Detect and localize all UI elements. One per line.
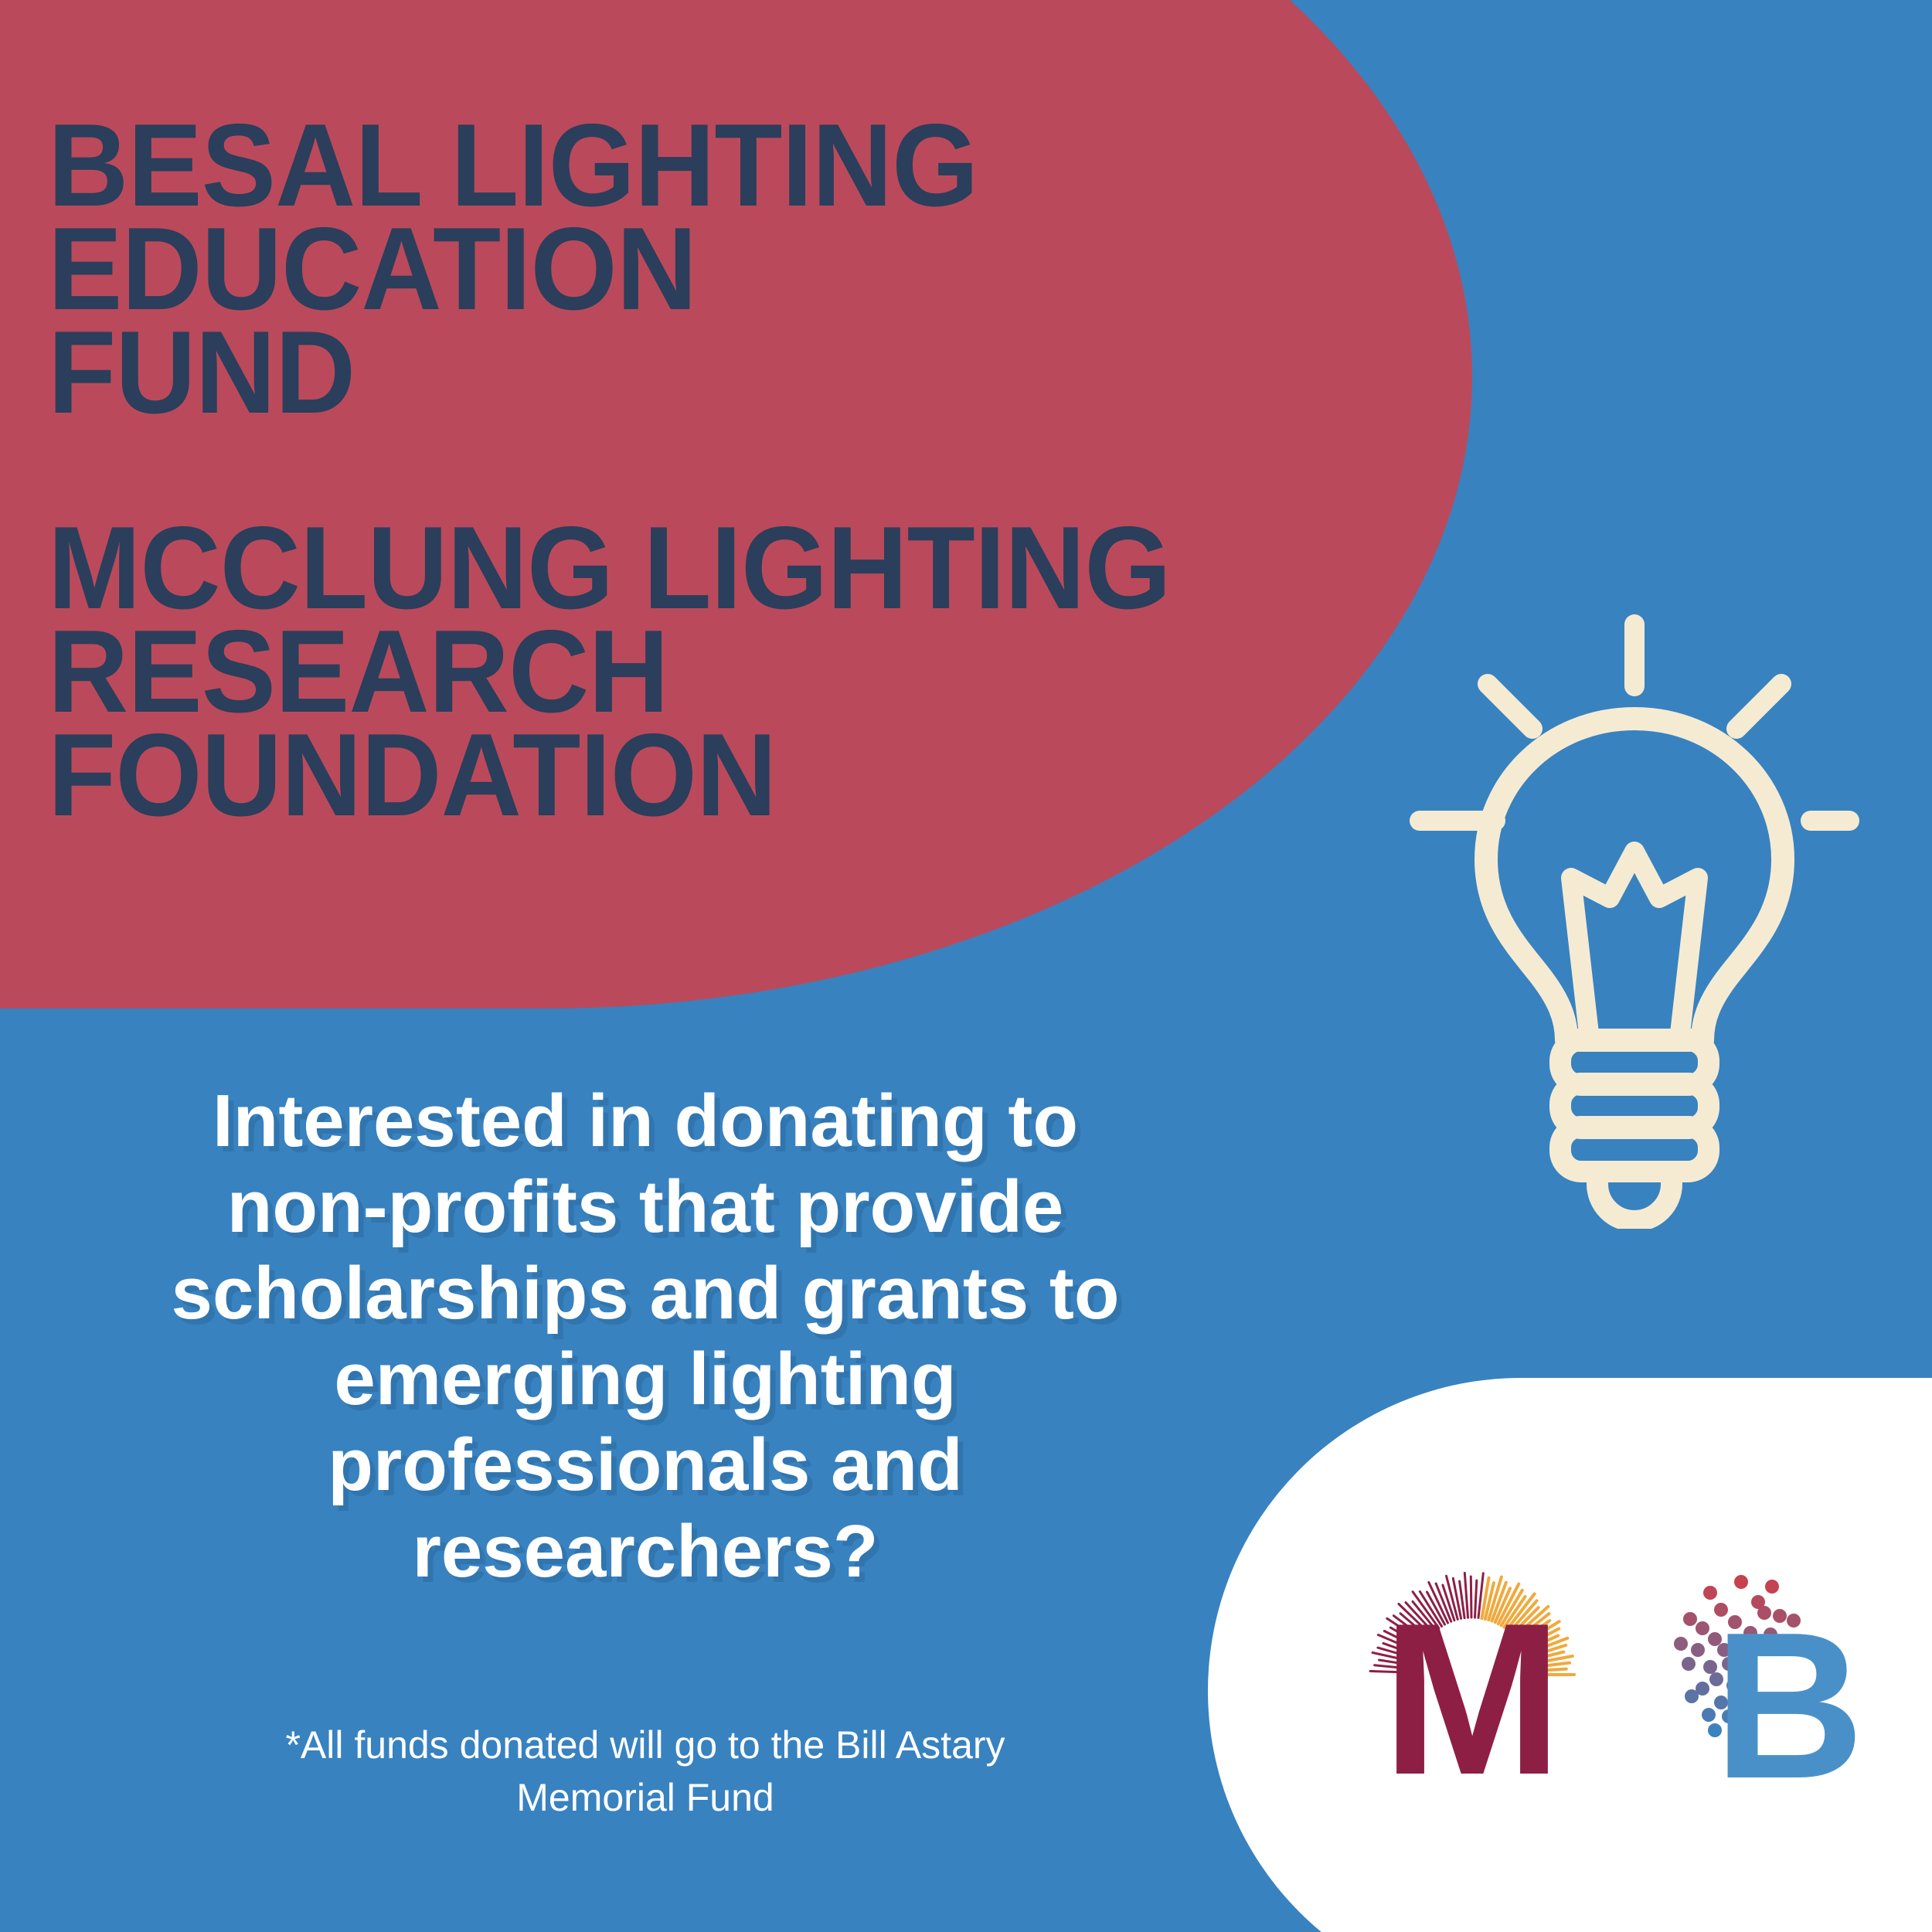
headline-line-2: EDUCATION <box>48 218 1369 321</box>
headline-line-6: FOUNDATION <box>48 724 1369 828</box>
headline-line-1: BESAL LIGHTING <box>48 114 1369 218</box>
body-line-4: emerging lighting <box>77 1336 1213 1422</box>
svg-text:B: B <box>1714 1590 1865 1804</box>
body-line-3: scholarships and grants to <box>77 1250 1213 1336</box>
mcclung-m-logo: M <box>1356 1542 1611 1804</box>
headline-line-4: MCCLUNG LIGHTING <box>48 517 1369 621</box>
headline-block-mcclung: MCCLUNG LIGHTING RESEARCH FOUNDATION <box>48 517 1369 827</box>
body-line-1: Interested in donating to <box>77 1078 1213 1164</box>
body-line-2: non-profits that provide <box>77 1164 1213 1250</box>
logo-row: M B <box>1345 1519 1909 1828</box>
besal-b-logo: B <box>1642 1542 1897 1804</box>
body-line-6: researchers? <box>77 1509 1213 1594</box>
footnote-disclaimer: *All funds donated will go to the Bill A… <box>77 1719 1213 1824</box>
poster-canvas: BESAL LIGHTING EDUCATION FUND MCCLUNG LI… <box>0 0 1932 1932</box>
footnote-line-1: *All funds donated will go to the Bill A… <box>77 1719 1213 1772</box>
body-paragraph: Interested in donating to non-profits th… <box>77 1078 1213 1594</box>
headline-line-3: FUND <box>48 321 1369 425</box>
headline-block-besal: BESAL LIGHTING EDUCATION FUND <box>48 114 1369 424</box>
headline-group: BESAL LIGHTING EDUCATION FUND MCCLUNG LI… <box>48 114 1369 828</box>
headline-line-5: RESEARCH <box>48 621 1369 724</box>
footnote-line-2: Memorial Fund <box>77 1772 1213 1825</box>
body-line-5: professionals and <box>77 1422 1213 1508</box>
svg-text:M: M <box>1382 1579 1562 1804</box>
lightbulb-icon <box>1387 611 1882 1229</box>
